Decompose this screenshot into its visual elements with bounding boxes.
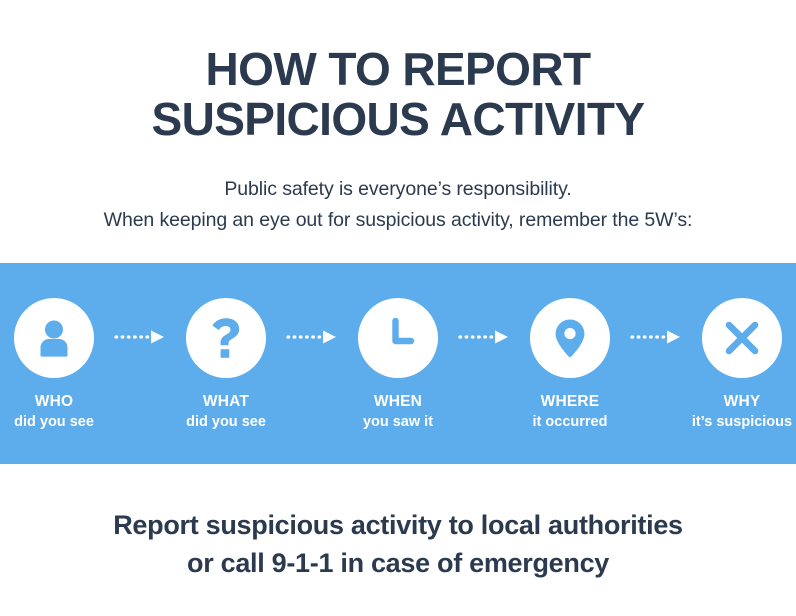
steps-band: WHO did you see: [0, 263, 796, 464]
location-pin-icon: [547, 315, 593, 361]
header-section: HOW TO REPORT SUSPICIOUS ACTIVITY Public…: [0, 0, 796, 263]
connector-3: [450, 263, 519, 464]
page-title: HOW TO REPORT SUSPICIOUS ACTIVITY: [0, 0, 796, 144]
step-where-subtitle: it occurred: [533, 414, 608, 431]
step-what-subtitle: did you see: [186, 414, 266, 431]
step-when-subtitle: you saw it: [363, 414, 433, 431]
page-title-line-2: SUSPICIOUS ACTIVITY: [0, 94, 796, 144]
step-why-subtitle: it’s suspicious: [692, 414, 792, 431]
subtitle-block: Public safety is everyone’s responsibili…: [0, 174, 796, 236]
step-where: WHERE it occurred: [519, 263, 622, 431]
subtitle-line-2: When keeping an eye out for suspicious a…: [0, 205, 796, 236]
subtitle-line-1: Public safety is everyone’s responsibili…: [0, 174, 796, 205]
step-when-icon-circle: [358, 298, 438, 378]
step-what-title: WHAT: [203, 393, 249, 411]
step-when-title: WHEN: [374, 393, 422, 411]
infographic-poster: HOW TO REPORT SUSPICIOUS ACTIVITY Public…: [0, 0, 796, 616]
call-to-action: Report suspicious activity to local auth…: [0, 464, 796, 582]
steps-row: WHO did you see: [0, 263, 796, 464]
dotted-arrow-icon: [114, 263, 166, 344]
connector-4: [622, 263, 691, 464]
page-title-line-1: HOW TO REPORT: [0, 44, 796, 94]
person-icon: [31, 315, 77, 361]
x-mark-icon: [719, 315, 765, 361]
dotted-arrow-icon: [458, 263, 510, 344]
step-where-title: WHERE: [541, 393, 600, 411]
step-who-subtitle: did you see: [14, 414, 94, 431]
connector-2: [278, 263, 347, 464]
dotted-arrow-icon: [630, 263, 682, 344]
step-why: WHY it’s suspicious: [691, 263, 794, 431]
step-who-title: WHO: [35, 393, 73, 411]
step-why-icon-circle: [702, 298, 782, 378]
question-mark-icon: [203, 315, 249, 361]
step-why-title: WHY: [724, 393, 761, 411]
call-to-action-line-2: or call 9-1-1 in case of emergency: [0, 544, 796, 582]
step-what-icon-circle: [186, 298, 266, 378]
step-who: WHO did you see: [3, 263, 106, 431]
step-when: WHEN you saw it: [347, 263, 450, 431]
step-what: WHAT did you see: [175, 263, 278, 431]
dotted-arrow-icon: [286, 263, 338, 344]
footer-section: Report suspicious activity to local auth…: [0, 464, 796, 616]
step-where-icon-circle: [530, 298, 610, 378]
connector-1: [106, 263, 175, 464]
clock-icon: [375, 315, 421, 361]
step-who-icon-circle: [14, 298, 94, 378]
call-to-action-line-1: Report suspicious activity to local auth…: [0, 506, 796, 544]
